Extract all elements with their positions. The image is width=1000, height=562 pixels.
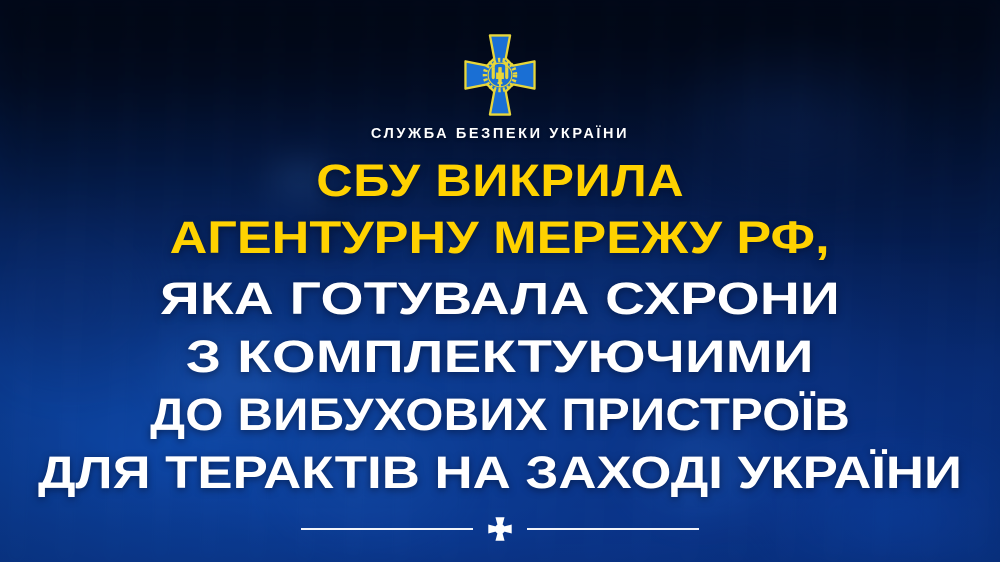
headline-line-6: ДЛЯ ТЕРАКТІВ НА ЗАХОДІ УКРАЇНИ (0, 450, 1000, 495)
headline-block: СБУ ВИКРИЛА АГЕНТУРНУ МЕРЕЖУ РФ, ЯКА ГОТ… (0, 158, 1000, 495)
headline-line-5: ДО ВИБУХОВИХ ПРИСТРОЇВ (0, 392, 1000, 437)
poster-content: СЛУЖБА БЕЗПЕКИ УКРАЇНИ СБУ ВИКРИЛА АГЕНТ… (0, 0, 1000, 562)
headline-line-5-text: ДО ВИБУХОВИХ ПРИСТРОЇВ (150, 392, 850, 437)
maltese-cross-divider (295, 515, 705, 543)
organization-name: СЛУЖБА БЕЗПЕКИ УКРАЇНИ (371, 126, 629, 142)
headline-line-1: СБУ ВИКРИЛА (0, 158, 1000, 203)
headline-line-4: З КОМПЛЕКТУЮЧИМИ (0, 334, 1000, 379)
sbu-emblem-icon (464, 34, 536, 116)
headline-line-1-text: СБУ ВИКРИЛА (316, 158, 684, 203)
sbu-announcement-poster: СЛУЖБА БЕЗПЕКИ УКРАЇНИ СБУ ВИКРИЛА АГЕНТ… (0, 0, 1000, 562)
headline-line-2-text: АГЕНТУРНУ МЕРЕЖУ РФ, (170, 215, 830, 260)
headline-line-4-text: З КОМПЛЕКТУЮЧИМИ (186, 334, 814, 379)
headline-line-3-text: ЯКА ГОТУВАЛА СХРОНИ (160, 276, 840, 321)
divider-rule-left (301, 528, 473, 530)
headline-line-2: АГЕНТУРНУ МЕРЕЖУ РФ, (0, 215, 1000, 260)
divider-rule-right (527, 528, 699, 530)
headline-line-3: ЯКА ГОТУВАЛА СХРОНИ (0, 276, 1000, 321)
headline-line-6-text: ДЛЯ ТЕРАКТІВ НА ЗАХОДІ УКРАЇНИ (38, 450, 962, 495)
maltese-cross-icon (487, 516, 513, 542)
